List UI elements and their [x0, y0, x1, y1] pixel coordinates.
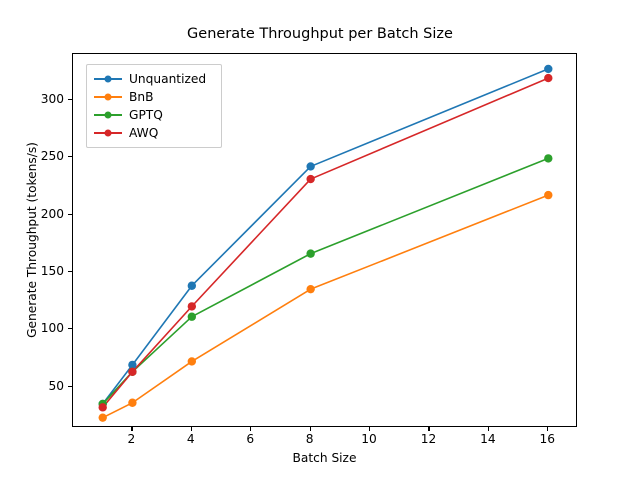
legend-item[interactable]: AWQ [93, 124, 215, 142]
legend-item[interactable]: GPTQ [93, 106, 215, 124]
legend-marker-icon [93, 90, 123, 104]
y-tick-label: 100 [24, 321, 64, 335]
data-point-marker [306, 285, 314, 293]
data-point-marker [188, 302, 196, 310]
series-line [103, 195, 549, 418]
data-point-marker [99, 403, 107, 411]
data-point-marker [306, 162, 314, 170]
x-tick-label: 6 [230, 432, 270, 446]
chart-title: Generate Throughput per Batch Size [0, 26, 640, 42]
y-tick-label: 150 [24, 264, 64, 278]
data-point-marker [188, 313, 196, 321]
series-line [103, 158, 549, 404]
legend-item[interactable]: BnB [93, 88, 215, 106]
y-axis-tick-labels: 50100150200250300 [16, 0, 64, 480]
legend-marker-icon [93, 126, 123, 140]
x-tick-label: 12 [408, 432, 448, 446]
x-tick-label: 4 [171, 432, 211, 446]
legend-label: AWQ [129, 126, 158, 140]
chart-legend: UnquantizedBnBGPTQAWQ [86, 64, 222, 148]
x-tick-label: 16 [527, 432, 567, 446]
x-axis-label: Batch Size [72, 451, 577, 465]
data-point-marker [544, 65, 552, 73]
chart-figure: Generate Throughput per Batch Size Gener… [0, 0, 640, 480]
y-tick-label: 200 [24, 207, 64, 221]
x-tick-label: 10 [349, 432, 389, 446]
data-point-marker [128, 368, 136, 376]
x-tick-label: 2 [111, 432, 151, 446]
legend-label: GPTQ [129, 108, 163, 122]
legend-marker-icon [93, 108, 123, 122]
x-tick-label: 8 [290, 432, 330, 446]
y-tick-label: 300 [24, 92, 64, 106]
legend-item[interactable]: Unquantized [93, 70, 215, 88]
y-tick-label: 250 [24, 149, 64, 163]
data-point-marker [306, 175, 314, 183]
x-tick-label: 14 [468, 432, 508, 446]
legend-label: Unquantized [129, 72, 206, 86]
data-point-marker [544, 154, 552, 162]
data-point-marker [99, 413, 107, 421]
data-point-marker [544, 74, 552, 82]
data-point-marker [306, 249, 314, 257]
y-tick-label: 50 [24, 379, 64, 393]
legend-marker-icon [93, 72, 123, 86]
data-point-marker [544, 191, 552, 199]
data-point-marker [188, 282, 196, 290]
legend-label: BnB [129, 90, 153, 104]
data-point-marker [188, 357, 196, 365]
data-point-marker [128, 399, 136, 407]
